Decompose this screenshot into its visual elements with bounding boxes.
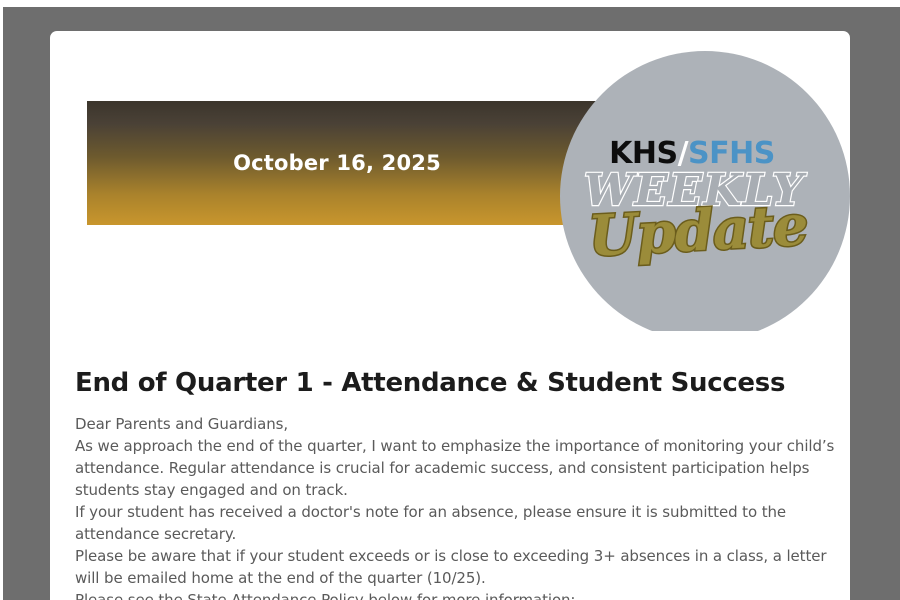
article-paragraph: Please see the State Attendance Policy b… bbox=[75, 589, 835, 600]
article-paragraph: As we approach the end of the quarter, I… bbox=[75, 435, 835, 501]
newsletter-page: October 16, 2025 KHS/SFHS WEEKLY Update … bbox=[50, 31, 850, 600]
article-paragraph: Please be aware that if your student exc… bbox=[75, 545, 835, 589]
newsletter-masthead: October 16, 2025 KHS/SFHS WEEKLY Update bbox=[50, 31, 850, 321]
banner-date-text: October 16, 2025 bbox=[87, 101, 587, 225]
article-paragraph: If your student has received a doctor's … bbox=[75, 501, 835, 545]
logo-badge: KHS/SFHS WEEKLY Update bbox=[560, 51, 850, 331]
article-body: End of Quarter 1 - Attendance & Student … bbox=[75, 369, 835, 600]
logo-text-group: KHS/SFHS WEEKLY Update bbox=[560, 51, 850, 331]
article-heading: End of Quarter 1 - Attendance & Student … bbox=[75, 369, 835, 399]
logo-update-text: Update bbox=[563, 196, 834, 266]
screenshot-viewport: October 16, 2025 KHS/SFHS WEEKLY Update … bbox=[0, 0, 900, 600]
article-paragraph: Dear Parents and Guardians, bbox=[75, 413, 835, 435]
